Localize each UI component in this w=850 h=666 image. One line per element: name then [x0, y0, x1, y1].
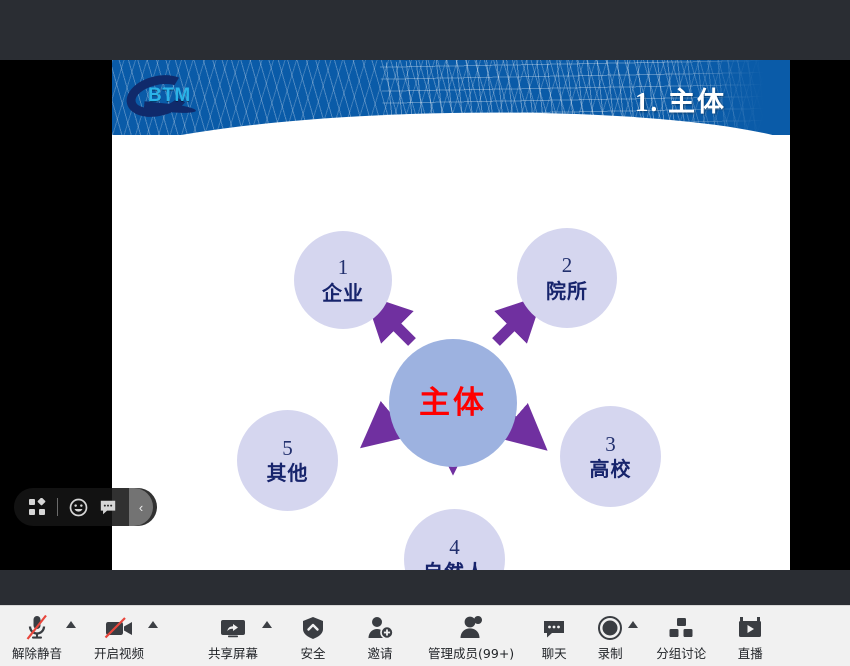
apps-icon[interactable] [22, 492, 52, 522]
record-icon [596, 612, 624, 642]
meeting-control-bar[interactable]: 解除静音 开启视频 共享屏幕 [0, 605, 850, 666]
chevron-up-icon [66, 621, 76, 628]
chevron-up-icon [628, 621, 638, 628]
control-unmute-label: 解除静音 [12, 643, 62, 662]
collapse-toolbar-button[interactable]: ‹ [129, 488, 153, 526]
slide-header-band: BTM 1. 主体 [112, 60, 790, 135]
control-start-video[interactable]: 开启视频 [94, 606, 144, 662]
window-titlebar [0, 0, 850, 60]
shield-icon [300, 612, 326, 642]
diagram-node-1-number: 1 [338, 256, 349, 280]
control-record[interactable]: 录制 [596, 606, 624, 662]
chat-bubble-icon [540, 612, 568, 642]
diagram-node-4-number: 4 [449, 536, 460, 560]
control-invite[interactable]: 邀请 [366, 606, 394, 662]
control-live-stream-label: 直播 [738, 643, 763, 662]
btm-logo: BTM [126, 74, 222, 118]
reactions-emoji-icon[interactable] [63, 492, 93, 522]
bottom-dark-strip [0, 570, 850, 605]
invite-person-icon [366, 612, 394, 642]
slide-title: 1. 主体 [635, 80, 726, 119]
control-security-label: 安全 [301, 643, 326, 662]
control-chat-label: 聊天 [542, 643, 567, 662]
control-share-screen[interactable]: 共享屏幕 [208, 606, 258, 662]
diagram-node-3-number: 3 [605, 433, 616, 457]
share-options-caret[interactable] [258, 606, 276, 642]
shared-slide: BTM 1. 主体 [112, 60, 790, 571]
chevron-up-icon [148, 621, 158, 628]
control-unmute[interactable]: 解除静音 [12, 606, 62, 662]
slide-diagram: 1 企业 2 院所 3 高校 4 自然人 [112, 135, 790, 571]
control-manage-participants-label: 管理成员(99+) [428, 643, 514, 662]
control-live-stream[interactable]: 直播 [736, 606, 764, 662]
diagram-node-5-number: 5 [282, 437, 293, 461]
float-toolbar-divider [57, 498, 58, 516]
control-invite-label: 邀请 [368, 643, 393, 662]
control-start-video-label: 开启视频 [94, 643, 144, 662]
control-manage-participants[interactable]: 管理成员(99+) [428, 606, 514, 662]
video-options-caret[interactable] [144, 606, 162, 642]
logo-text: BTM [148, 85, 191, 107]
diagram-center-node: 主体 [389, 339, 517, 467]
shared-screen-stage[interactable]: BTM 1. 主体 [0, 60, 850, 605]
zoom-meeting-window: BTM 1. 主体 [0, 0, 850, 666]
diagram-node-2-label: 院所 [546, 280, 588, 302]
control-security[interactable]: 安全 [300, 606, 326, 662]
control-breakout-rooms[interactable]: 分组讨论 [656, 606, 706, 662]
record-options-caret[interactable] [624, 606, 642, 642]
breakout-rooms-icon [666, 612, 696, 642]
diagram-node-1-label: 企业 [322, 282, 364, 304]
diagram-node-5-label: 其他 [267, 462, 309, 484]
diagram-node-5: 5 其他 [237, 410, 338, 511]
chevron-up-icon [262, 621, 272, 628]
diagram-center-node-label: 主体 [419, 386, 487, 421]
control-breakout-rooms-label: 分组讨论 [656, 643, 706, 662]
diagram-node-3: 3 高校 [560, 406, 661, 507]
camera-muted-icon [103, 612, 135, 642]
control-chat[interactable]: 聊天 [540, 606, 568, 662]
diagram-node-2: 2 院所 [517, 228, 617, 328]
floating-reaction-toolbar[interactable]: ‹ [14, 488, 157, 526]
participants-icon [456, 612, 486, 642]
chat-bubble-icon[interactable] [93, 492, 123, 522]
control-share-screen-label: 共享屏幕 [208, 643, 258, 662]
microphone-muted-icon [24, 612, 50, 642]
diagram-node-1: 1 企业 [294, 231, 392, 329]
diagram-node-3-label: 高校 [590, 458, 632, 480]
control-record-label: 录制 [598, 643, 623, 662]
diagram-node-2-number: 2 [562, 254, 573, 278]
share-screen-icon [218, 612, 248, 642]
audio-options-caret[interactable] [62, 606, 80, 642]
live-stream-icon [736, 612, 764, 642]
